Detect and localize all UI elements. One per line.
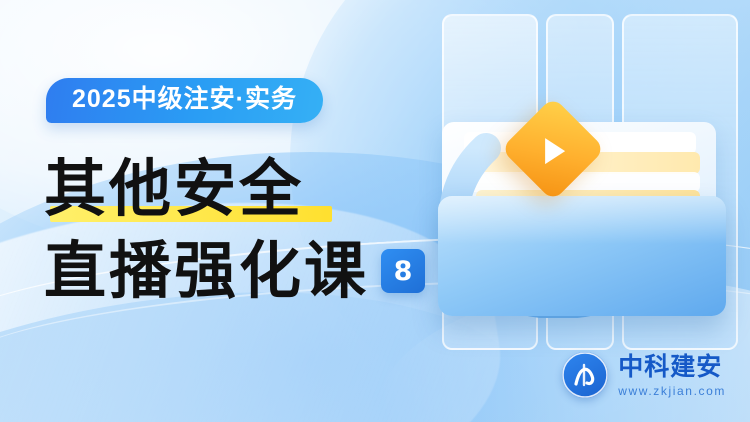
course-promo-banner: 2025中级注安·实务 其他安全 直播强化课 8 中科建安 www.zkjian… bbox=[0, 0, 750, 422]
course-tag-badge: 2025中级注安·实务 bbox=[46, 78, 323, 123]
brand-logo-texts: 中科建安 www.zkjian.com bbox=[618, 354, 726, 397]
episode-number-badge: 8 bbox=[381, 249, 425, 293]
headline-line-1: 其他安全 bbox=[44, 158, 304, 220]
headline-row-2: 直播强化课 8 bbox=[44, 230, 464, 312]
headline-row-1: 其他安全 bbox=[44, 148, 464, 230]
zkjian-circle-logo-icon bbox=[562, 352, 608, 398]
headline-line-2: 直播强化课 bbox=[44, 240, 369, 302]
brand-name: 中科建安 bbox=[618, 354, 726, 379]
document-folder-front bbox=[438, 196, 726, 316]
headline-block: 其他安全 直播强化课 8 bbox=[44, 148, 464, 312]
play-triangle-glyph bbox=[545, 138, 565, 164]
brand-logo: 中科建安 www.zkjian.com bbox=[562, 352, 726, 398]
brand-url: www.zkjian.com bbox=[618, 385, 726, 397]
